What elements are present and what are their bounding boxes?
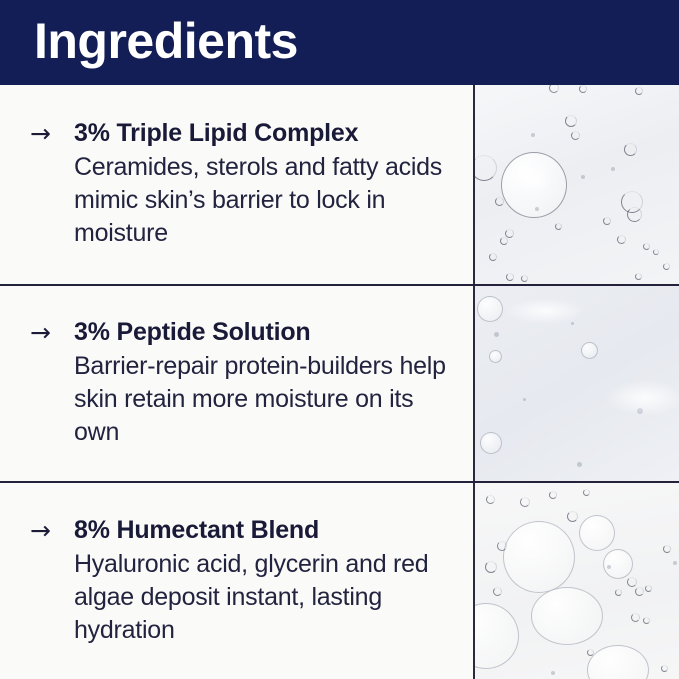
bubble-small — [663, 545, 671, 553]
bubble-small — [485, 561, 497, 573]
bubble-dot — [607, 565, 611, 569]
ingredients-list: → 3% Triple Lipid Complex Ceramides, ste… — [0, 85, 679, 679]
ingredient-title-2: 3% Peptide Solution — [74, 316, 451, 349]
bubble-small — [500, 237, 508, 245]
bubble-dot — [673, 561, 677, 565]
bubble-small — [583, 489, 590, 496]
ingredient-text-cell-1: → 3% Triple Lipid Complex Ceramides, ste… — [0, 85, 475, 284]
bubble-small — [521, 275, 528, 282]
ingredient-row-2: → 3% Peptide Solution Barrier-repair pro… — [0, 284, 679, 481]
bubble-large — [475, 603, 519, 669]
bubble-small — [615, 589, 622, 596]
bubble-small — [627, 207, 642, 222]
ingredient-row-1: → 3% Triple Lipid Complex Ceramides, ste… — [0, 85, 679, 284]
ingredients-infographic: Ingredients → 3% Triple Lipid Complex Ce… — [0, 0, 679, 679]
page-title: Ingredients — [34, 11, 298, 71]
bubble-small — [653, 249, 659, 255]
ingredient-title-3: 8% Humectant Blend — [74, 514, 451, 547]
bubble-dot — [523, 398, 526, 401]
bubble-small — [631, 613, 640, 622]
bubble-medium — [477, 296, 503, 322]
arrow-right-icon: → — [30, 117, 74, 150]
bubble-small — [493, 587, 502, 596]
bubble-small — [579, 85, 587, 93]
bubble-small — [549, 491, 557, 499]
bubble-small — [624, 143, 637, 156]
bubble-dot — [494, 332, 499, 337]
bubble-small — [663, 263, 670, 270]
bubble-medium — [581, 342, 598, 359]
bubble-small — [549, 85, 559, 93]
bubble-small — [645, 585, 652, 592]
ingredient-image-3 — [475, 483, 679, 679]
bubble-medium — [603, 549, 633, 579]
arrow-right-icon: → — [30, 514, 74, 547]
ingredient-image-1 — [475, 85, 679, 284]
bubble-small — [587, 649, 594, 656]
bubble-dot — [571, 322, 574, 325]
bubble-dot — [581, 175, 585, 179]
bubble-dot — [551, 671, 555, 675]
bubble-small — [643, 243, 650, 250]
bubble-small — [497, 541, 507, 551]
bubble-small — [603, 217, 611, 225]
ingredient-description-1: Ceramides, sterols and fatty acids mimic… — [74, 151, 451, 250]
bubble-small — [635, 273, 642, 280]
bubble-large — [531, 587, 603, 645]
arrow-right-icon: → — [30, 316, 74, 349]
bubble-medium — [579, 515, 615, 551]
bubble-small — [635, 587, 644, 596]
bubble-small — [495, 197, 504, 206]
bubble-dot — [577, 462, 582, 467]
bubble-small — [555, 223, 562, 230]
bubble-small — [489, 253, 497, 261]
bubble-small — [643, 617, 650, 624]
bubble-dot — [611, 167, 615, 171]
header-banner: Ingredients — [0, 0, 679, 85]
bubble-large — [503, 521, 575, 593]
bubble-small — [475, 155, 497, 181]
bubble-small — [617, 235, 626, 244]
bubble-medium — [480, 432, 502, 454]
ingredient-description-3: Hyaluronic acid, glycerin and red algae … — [74, 548, 451, 647]
bubble-dot — [637, 408, 643, 414]
ingredient-text-cell-2: → 3% Peptide Solution Barrier-repair pro… — [0, 286, 475, 481]
bubble-small — [567, 511, 578, 522]
ingredient-row-3: → 8% Humectant Blend Hyaluronic acid, gl… — [0, 481, 679, 679]
bubble-small — [520, 497, 530, 507]
bubble-dot — [531, 133, 535, 137]
bubble-small — [571, 131, 580, 140]
surface-sheen — [505, 298, 585, 324]
ingredient-title-1: 3% Triple Lipid Complex — [74, 117, 451, 150]
bubble-dot — [535, 207, 539, 211]
bubble-small — [505, 229, 514, 238]
ingredient-description-2: Barrier-repair protein-builders help ski… — [74, 350, 451, 449]
bubble-small — [506, 273, 514, 281]
bubble-small — [486, 495, 495, 504]
ingredient-text-cell-3: → 8% Humectant Blend Hyaluronic acid, gl… — [0, 483, 475, 679]
bubble-large — [587, 645, 649, 679]
bubble-large — [501, 152, 567, 218]
ingredient-image-2 — [475, 286, 679, 481]
bubble-small — [489, 350, 502, 363]
bubble-small — [627, 577, 637, 587]
bubble-small — [565, 115, 577, 127]
bubble-small — [635, 87, 643, 95]
bubble-small — [661, 665, 668, 672]
